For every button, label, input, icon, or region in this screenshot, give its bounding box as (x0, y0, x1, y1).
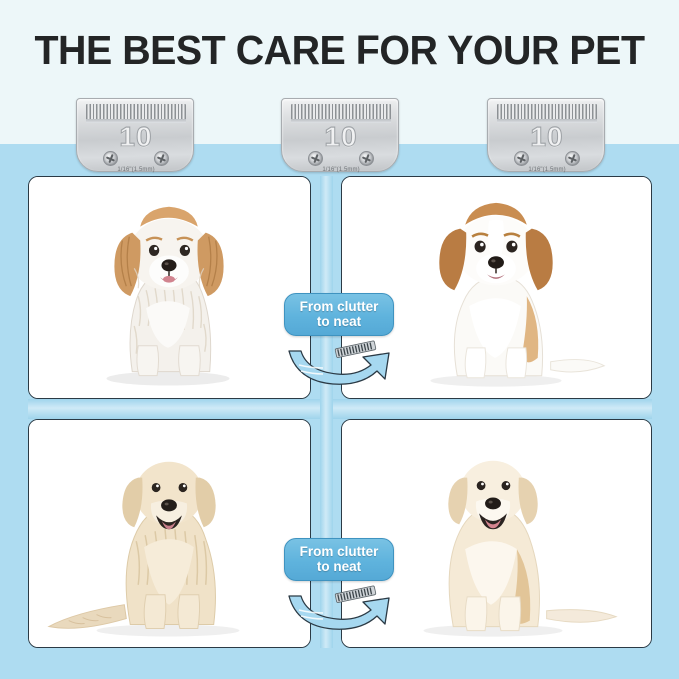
transition-line-2: to neat (289, 314, 389, 329)
clipper-blade-3: 10 1/16"(1.5mm) (487, 88, 605, 172)
blade-screw-right-icon (359, 151, 374, 166)
horizontal-divider-bar (28, 399, 652, 419)
blade-body: 10 1/16"(1.5mm) (281, 98, 399, 172)
blade-size-label: 1/16"(1.5mm) (77, 167, 195, 173)
blade-size-label: 1/16"(1.5mm) (488, 167, 606, 173)
blade-teeth-icon (86, 104, 186, 121)
blade-screw-right-icon (565, 151, 580, 166)
clipper-blade-2: 10 1/16"(1.5mm) (281, 88, 399, 172)
transition-line-1: From clutter (289, 544, 389, 559)
blade-teeth-icon (497, 104, 597, 121)
blade-body: 10 1/16"(1.5mm) (76, 98, 194, 172)
blade-number-label: 10 (77, 121, 195, 153)
curved-arrow-icon (277, 582, 401, 634)
photo-panel-before-terrier (28, 176, 311, 399)
blade-row: 10 1/16"(1.5mm) 10 1/16"(1.5mm) 10 1/16"… (0, 88, 679, 176)
blade-screw-left-icon (103, 151, 118, 166)
photo-panel-before-retriever (28, 419, 311, 648)
blade-body: 10 1/16"(1.5mm) (487, 98, 605, 172)
blade-screw-left-icon (308, 151, 323, 166)
blade-number-label: 10 (488, 121, 606, 153)
transition-line-2: to neat (289, 559, 389, 574)
dog-photo-shaggy-retriever (29, 420, 310, 647)
clipper-blade-1: 10 1/16"(1.5mm) (76, 88, 194, 172)
transition-callout-bottom: From clutter to neat (277, 538, 401, 634)
blade-teeth-icon (291, 104, 391, 121)
dog-photo-shaggy-terrier (29, 177, 310, 398)
transition-badge: From clutter to neat (284, 293, 394, 336)
transition-callout-top: From clutter to neat (277, 293, 401, 389)
blade-screw-left-icon (514, 151, 529, 166)
blade-size-label: 1/16"(1.5mm) (282, 167, 400, 173)
transition-badge: From clutter to neat (284, 538, 394, 581)
page-title: THE BEST CARE FOR YOUR PET (14, 28, 666, 72)
blade-number-label: 10 (282, 121, 400, 153)
blade-screw-right-icon (154, 151, 169, 166)
curved-arrow-icon (277, 337, 401, 389)
transition-line-1: From clutter (289, 299, 389, 314)
